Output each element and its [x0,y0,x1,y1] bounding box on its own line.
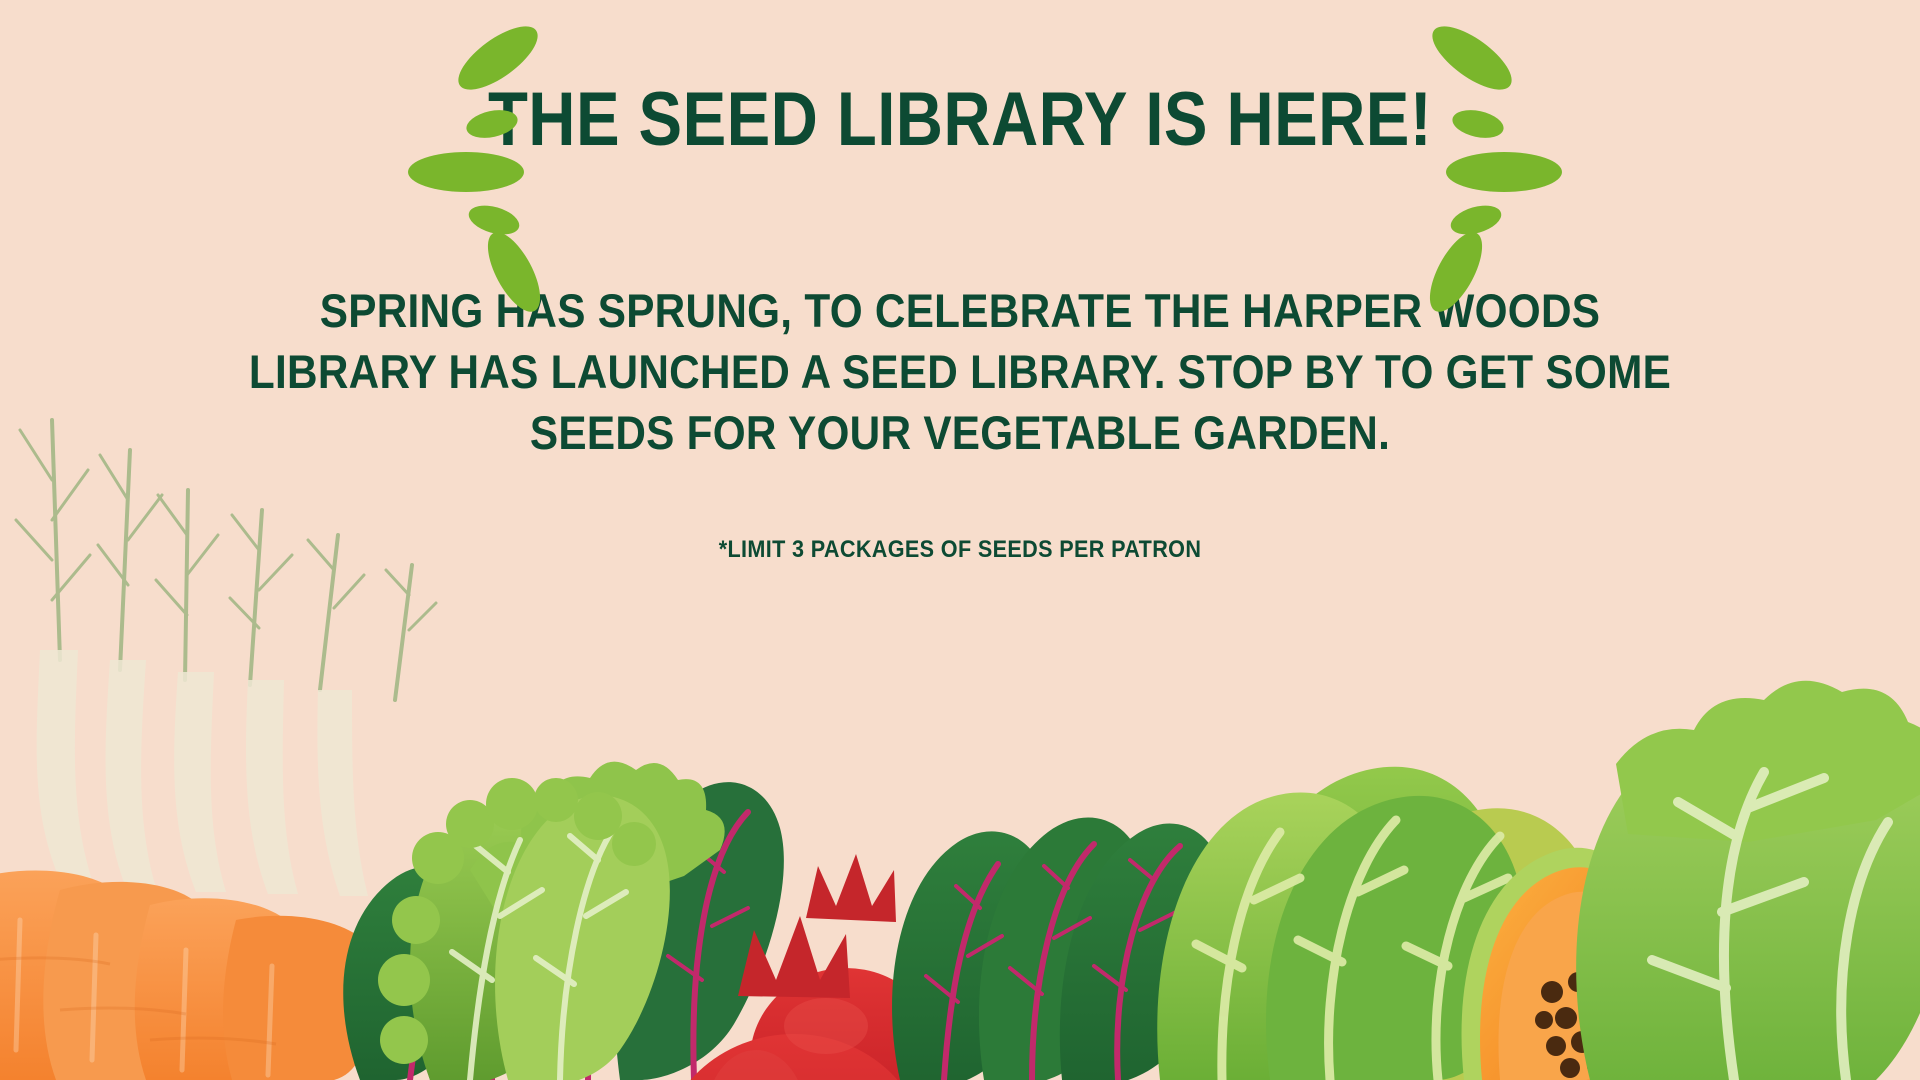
papaya-slice [1462,848,1646,1080]
swiss-chard [892,818,1226,1080]
carrot-tops [16,420,436,700]
beet-greens-left [343,782,784,1080]
carrot-bunch [0,871,372,1080]
sparkle-burst-left-icon [410,20,570,250]
vegetable-border-illustration [0,360,1920,1080]
collard-leaf [1576,681,1920,1080]
poster-fine-print: *LIMIT 3 PACKAGES OF SEEDS PER PATRON [96,536,1824,564]
poster-canvas: THE SEED LIBRARY IS HERE! SPRING HAS SPR… [0,0,1920,1080]
sparkle-burst-right-icon [1400,20,1560,250]
papaya-seeds [1535,972,1609,1078]
cabbage-head-group [1157,767,1603,1080]
poster-text-block: THE SEED LIBRARY IS HERE! SPRING HAS SPR… [0,0,1920,620]
poster-body-copy: SPRING HAS SPRUNG, TO CELEBRATE THE HARP… [231,280,1689,463]
kale-leaves [378,762,725,1080]
carrot-stems [37,650,368,896]
pomegranate-group [660,854,942,1080]
